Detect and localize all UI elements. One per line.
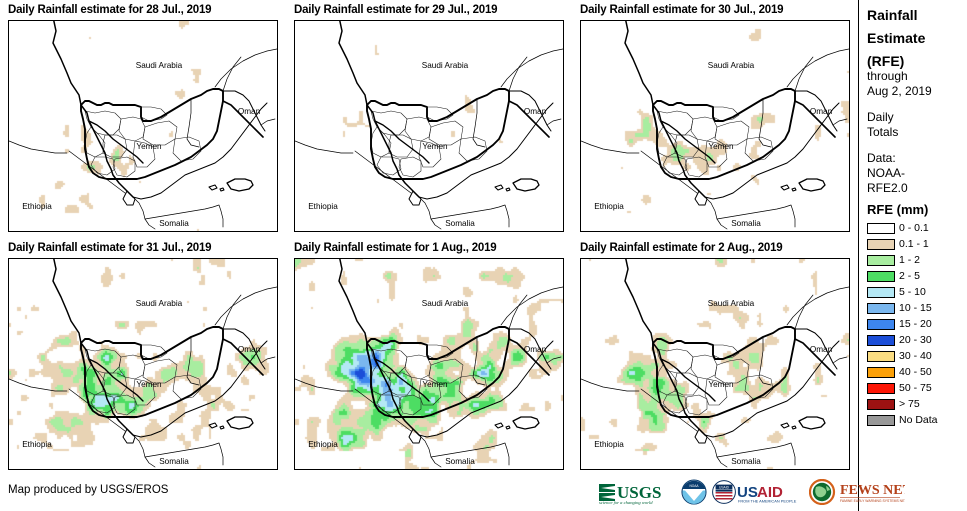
map-panel-grid: Daily Rainfall estimate for 28 Jul., 201… bbox=[0, 0, 858, 475]
fews-net-logo: FEWS NET FAMINE EARLY WARNING SYSTEMS NE… bbox=[809, 478, 905, 506]
sidebar-through-date: Aug 2, 2019 bbox=[867, 84, 967, 99]
sidebar-totals-line1: Daily bbox=[867, 110, 967, 125]
legend-label-2: 1 - 2 bbox=[899, 255, 920, 266]
legend-label-9: 40 - 50 bbox=[899, 367, 932, 378]
svg-text:Saudi Arabia: Saudi Arabia bbox=[422, 299, 469, 308]
noaa-logo: NOAA bbox=[681, 478, 707, 506]
svg-text:Saudi Arabia: Saudi Arabia bbox=[708, 299, 755, 308]
svg-text:Saudi Arabia: Saudi Arabia bbox=[136, 299, 183, 308]
svg-text:science for a changing world: science for a changing world bbox=[599, 500, 653, 505]
svg-text:Yemen: Yemen bbox=[708, 380, 734, 389]
sidebar-title-line1: Rainfall bbox=[867, 8, 967, 23]
map-box-p2: Saudi ArabiaOmanYemenEthiopiaSomalia bbox=[294, 20, 564, 232]
svg-text:Yemen: Yemen bbox=[422, 142, 448, 151]
sidebar-data-source-2: RFE2.0 bbox=[867, 181, 967, 196]
legend-item-12: No Data bbox=[867, 412, 967, 428]
legend-swatch-6 bbox=[867, 319, 895, 330]
legend-swatch-10 bbox=[867, 383, 895, 394]
svg-text:Ethiopia: Ethiopia bbox=[308, 202, 338, 211]
legend-swatch-3 bbox=[867, 271, 895, 282]
panel-title-p4: Daily Rainfall estimate for 31 Jul., 201… bbox=[0, 238, 286, 257]
legend-label-8: 30 - 40 bbox=[899, 351, 932, 362]
legend-title: RFE (mm) bbox=[867, 202, 967, 217]
legend-swatch-11 bbox=[867, 399, 895, 410]
svg-text:Yemen: Yemen bbox=[136, 380, 162, 389]
legend-sidebar: Rainfall Estimate (RFE) through Aug 2, 2… bbox=[858, 0, 967, 511]
sidebar-title-line2: Estimate bbox=[867, 31, 967, 46]
legend-label-3: 2 - 5 bbox=[899, 271, 920, 282]
legend-label-7: 20 - 30 bbox=[899, 335, 932, 346]
panel-title-p1: Daily Rainfall estimate for 28 Jul., 201… bbox=[0, 0, 286, 19]
legend-item-5: 10 - 15 bbox=[867, 300, 967, 316]
svg-text:Oman: Oman bbox=[524, 345, 547, 354]
legend-label-4: 5 - 10 bbox=[899, 287, 926, 298]
svg-text:Oman: Oman bbox=[810, 345, 833, 354]
legend-swatch-2 bbox=[867, 255, 895, 266]
svg-text:Oman: Oman bbox=[238, 107, 261, 116]
legend-item-4: 5 - 10 bbox=[867, 284, 967, 300]
sidebar-data-source-1: NOAA- bbox=[867, 166, 967, 181]
map-box-p5: Saudi ArabiaOmanYemenEthiopiaSomalia bbox=[294, 258, 564, 470]
usaid-logo: USAID US AID FROM THE AMERICAN PEOPLE bbox=[712, 478, 804, 506]
svg-text:Somalia: Somalia bbox=[445, 457, 475, 466]
sidebar-title-line3: (RFE) bbox=[867, 54, 967, 69]
spacer-1 bbox=[867, 99, 967, 110]
legend-label-11: > 75 bbox=[899, 399, 920, 410]
svg-text:Yemen: Yemen bbox=[708, 142, 734, 151]
sidebar-totals-line2: Totals bbox=[867, 125, 967, 140]
legend-swatch-12 bbox=[867, 415, 895, 426]
svg-text:Saudi Arabia: Saudi Arabia bbox=[136, 61, 183, 70]
svg-text:Oman: Oman bbox=[238, 345, 261, 354]
map-panel-p2: Daily Rainfall estimate for 29 Jul., 201… bbox=[286, 0, 572, 238]
svg-text:Somalia: Somalia bbox=[159, 457, 189, 466]
svg-text:Yemen: Yemen bbox=[136, 142, 162, 151]
map-panel-p6: Daily Rainfall estimate for 2 Aug., 2019… bbox=[572, 238, 858, 476]
map-box-p3: Saudi ArabiaOmanYemenEthiopiaSomalia bbox=[580, 20, 850, 232]
map-credit: Map produced by USGS/EROS bbox=[8, 484, 168, 496]
svg-text:Oman: Oman bbox=[810, 107, 833, 116]
svg-text:Ethiopia: Ethiopia bbox=[22, 202, 52, 211]
legend-label-1: 0.1 - 1 bbox=[899, 239, 929, 250]
svg-text:FEWS NET: FEWS NET bbox=[840, 483, 905, 498]
legend-item-6: 15 - 20 bbox=[867, 316, 967, 332]
map-panel-p4: Daily Rainfall estimate for 31 Jul., 201… bbox=[0, 238, 286, 476]
legend-label-12: No Data bbox=[899, 415, 938, 426]
legend-swatch-8 bbox=[867, 351, 895, 362]
panel-title-p3: Daily Rainfall estimate for 30 Jul., 201… bbox=[572, 0, 858, 19]
legend-item-10: 50 - 75 bbox=[867, 380, 967, 396]
legend-item-0: 0 - 0.1 bbox=[867, 220, 967, 236]
svg-text:FROM THE AMERICAN PEOPLE: FROM THE AMERICAN PEOPLE bbox=[738, 498, 797, 503]
legend-item-1: 0.1 - 1 bbox=[867, 236, 967, 252]
legend-label-6: 15 - 20 bbox=[899, 319, 932, 330]
legend-swatch-5 bbox=[867, 303, 895, 314]
map-box-p1: Saudi ArabiaOmanYemenEthiopiaSomalia bbox=[8, 20, 278, 232]
sidebar-data-label: Data: bbox=[867, 151, 967, 166]
map-box-p6: Saudi ArabiaOmanYemenEthiopiaSomalia bbox=[580, 258, 850, 470]
agency-logos: USGS science for a changing world NOAA U… bbox=[598, 476, 905, 508]
svg-text:Oman: Oman bbox=[524, 107, 547, 116]
sidebar-through-label: through bbox=[867, 69, 967, 84]
map-box-p4: Saudi ArabiaOmanYemenEthiopiaSomalia bbox=[8, 258, 278, 470]
svg-text:Saudi Arabia: Saudi Arabia bbox=[708, 61, 755, 70]
legend-swatch-9 bbox=[867, 367, 895, 378]
panel-title-p6: Daily Rainfall estimate for 2 Aug., 2019 bbox=[572, 238, 858, 257]
legend-label-0: 0 - 0.1 bbox=[899, 223, 929, 234]
legend-item-11: > 75 bbox=[867, 396, 967, 412]
svg-text:Ethiopia: Ethiopia bbox=[594, 440, 624, 449]
legend-swatch-4 bbox=[867, 287, 895, 298]
map-panel-p5: Daily Rainfall estimate for 1 Aug., 2019… bbox=[286, 238, 572, 476]
svg-text:Ethiopia: Ethiopia bbox=[22, 440, 52, 449]
panel-title-p5: Daily Rainfall estimate for 1 Aug., 2019 bbox=[286, 238, 572, 257]
legend-item-2: 1 - 2 bbox=[867, 252, 967, 268]
legend-item-3: 2 - 5 bbox=[867, 268, 967, 284]
legend-item-8: 30 - 40 bbox=[867, 348, 967, 364]
legend-label-5: 10 - 15 bbox=[899, 303, 932, 314]
map-panel-p1: Daily Rainfall estimate for 28 Jul., 201… bbox=[0, 0, 286, 238]
usgs-logo: USGS science for a changing world bbox=[598, 478, 676, 506]
svg-text:NOAA: NOAA bbox=[689, 484, 699, 488]
spacer-2 bbox=[867, 140, 967, 151]
legend-item-7: 20 - 30 bbox=[867, 332, 967, 348]
legend-label-10: 50 - 75 bbox=[899, 383, 932, 394]
legend-swatch-1 bbox=[867, 239, 895, 250]
legend-swatch-0 bbox=[867, 223, 895, 234]
svg-text:Yemen: Yemen bbox=[422, 380, 448, 389]
legend-item-9: 40 - 50 bbox=[867, 364, 967, 380]
rfe-map-figure: Daily Rainfall estimate for 28 Jul., 201… bbox=[0, 0, 967, 511]
panel-title-p2: Daily Rainfall estimate for 29 Jul., 201… bbox=[286, 0, 572, 19]
svg-text:Saudi Arabia: Saudi Arabia bbox=[422, 61, 469, 70]
svg-text:Somalia: Somalia bbox=[731, 219, 761, 228]
svg-text:Somalia: Somalia bbox=[445, 219, 475, 228]
svg-text:USAID: USAID bbox=[719, 486, 730, 490]
legend-list: 0 - 0.10.1 - 11 - 22 - 55 - 1010 - 1515 … bbox=[867, 220, 967, 428]
legend-swatch-7 bbox=[867, 335, 895, 346]
svg-text:Somalia: Somalia bbox=[731, 457, 761, 466]
svg-text:Somalia: Somalia bbox=[159, 219, 189, 228]
svg-text:Ethiopia: Ethiopia bbox=[308, 440, 338, 449]
svg-text:FAMINE EARLY WARNING SYSTEMS N: FAMINE EARLY WARNING SYSTEMS NETWORK bbox=[840, 499, 905, 503]
map-panel-p3: Daily Rainfall estimate for 30 Jul., 201… bbox=[572, 0, 858, 238]
svg-text:Ethiopia: Ethiopia bbox=[594, 202, 624, 211]
